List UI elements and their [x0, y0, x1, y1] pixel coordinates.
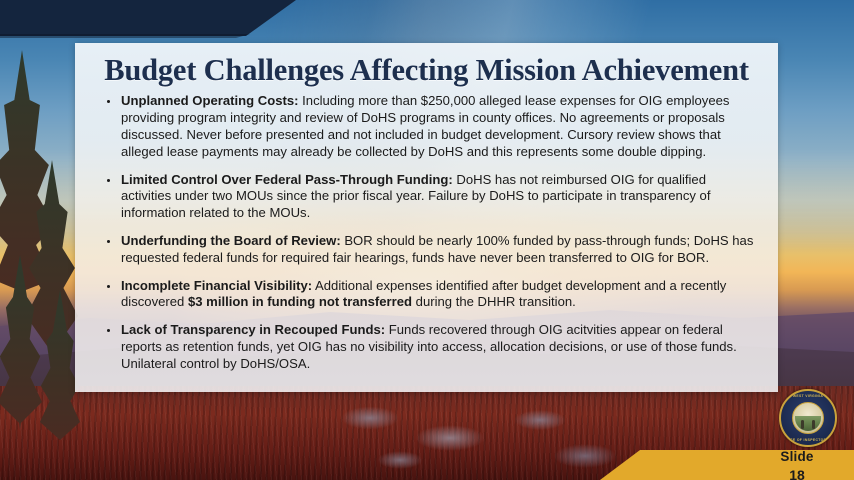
bullet-list: Unplanned Operating Costs: Including mor… [75, 88, 778, 372]
wv-oig-seal-icon: WEST VIRGINIA OFFICE OF INSPECTOR GENERA… [779, 389, 837, 447]
list-item: Underfunding the Board of Review: BOR sh… [105, 233, 756, 267]
content-panel: Budget Challenges Affecting Mission Achi… [75, 43, 778, 392]
bullet-lead: Underfunding the Board of Review: [121, 233, 341, 248]
top-navy-banner [0, 0, 296, 36]
bullet-lead: Unplanned Operating Costs: [121, 93, 299, 108]
bullet-lead: Limited Control Over Federal Pass-Throug… [121, 172, 453, 187]
seal-emblem [792, 402, 824, 434]
seal-figure-icon [812, 420, 815, 429]
top-banner-shadow [0, 34, 250, 38]
presentation-slide: Budget Challenges Affecting Mission Achi… [0, 0, 854, 480]
slide-number: 18 [740, 468, 854, 480]
seal-ring-bottom-text: OFFICE OF INSPECTOR GENERAL [781, 438, 835, 442]
list-item: Incomplete Financial Visibility: Additio… [105, 278, 756, 312]
page-title: Budget Challenges Affecting Mission Achi… [75, 43, 778, 88]
list-item: Unplanned Operating Costs: Including mor… [105, 93, 756, 160]
seal-ring-top-text: WEST VIRGINIA [781, 394, 835, 398]
seal-figure-icon [801, 420, 804, 429]
bullet-lead: Lack of Transparency in Recouped Funds: [121, 322, 385, 337]
seal-landscape [795, 416, 821, 431]
bullet-body-after: during the DHHR transition. [412, 294, 576, 309]
bullet-emphasis: $3 million in funding not transferred [188, 294, 412, 309]
rock-outcrop [330, 398, 630, 480]
list-item: Limited Control Over Federal Pass-Throug… [105, 172, 756, 222]
list-item: Lack of Transparency in Recouped Funds: … [105, 322, 756, 372]
slide-label: Slide [740, 450, 854, 464]
bullet-lead: Incomplete Financial Visibility: [121, 278, 312, 293]
